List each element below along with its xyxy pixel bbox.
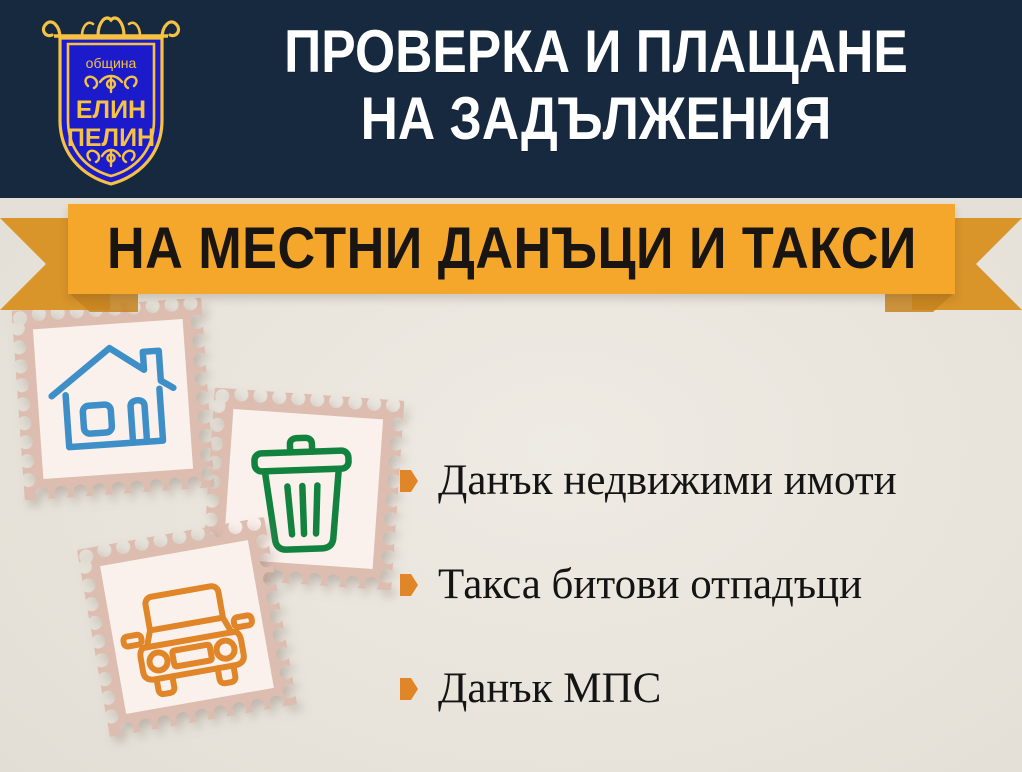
tax-type-list: Данък недвижими имоти Такса битови отпад… [398,428,1008,740]
header-inner: община ЕЛИН ПЕЛИН [0,0,1022,198]
crest-icon: община ЕЛИН ПЕЛИН [36,8,186,190]
bullet-arrow-icon [398,676,420,702]
stamp-vehicle-graphic [77,517,297,737]
list-item[interactable]: Такса битови отпадъци [398,532,1008,636]
ribbon-main-panel: НА МЕСТНИ ДАНЪЦИ И ТАКСИ [68,204,955,294]
header-bar: община ЕЛИН ПЕЛИН [0,0,1022,198]
list-item[interactable]: Данък МПС [398,636,1008,740]
bullet-arrow-icon [398,572,420,598]
stamp-house [12,298,215,501]
list-item-label: Данък недвижими имоти [438,459,897,502]
list-item-label: Данък МПС [438,667,661,710]
crest-label-line1: ЕЛИН [76,96,146,124]
crest-label-line2: ПЕЛИН [67,124,155,152]
municipality-crest: община ЕЛИН ПЕЛИН [36,8,186,190]
page-title-line-2: НА ЗАДЪЛЖЕНИЯ [247,85,945,152]
list-item[interactable]: Данък недвижими имоти [398,428,1008,532]
ribbon-subtitle: НА МЕСТНИ ДАНЪЦИ И ТАКСИ [107,220,917,278]
poster-root: община ЕЛИН ПЕЛИН [0,0,1022,772]
ribbon-banner: НА МЕСТНИ ДАНЪЦИ И ТАКСИ [0,196,1022,308]
stamp-collage [0,296,420,772]
page-title: ПРОВЕРКА И ПЛАЩАНЕ НА ЗАДЪЛЖЕНИЯ [190,18,1002,152]
stamp-house-graphic [12,298,215,501]
stamp-vehicle [77,517,297,737]
page-title-line-1: ПРОВЕРКА И ПЛАЩАНЕ [247,18,945,85]
list-item-label: Такса битови отпадъци [438,563,862,606]
bullet-arrow-icon [398,468,420,494]
crest-label-top: община [86,55,137,71]
